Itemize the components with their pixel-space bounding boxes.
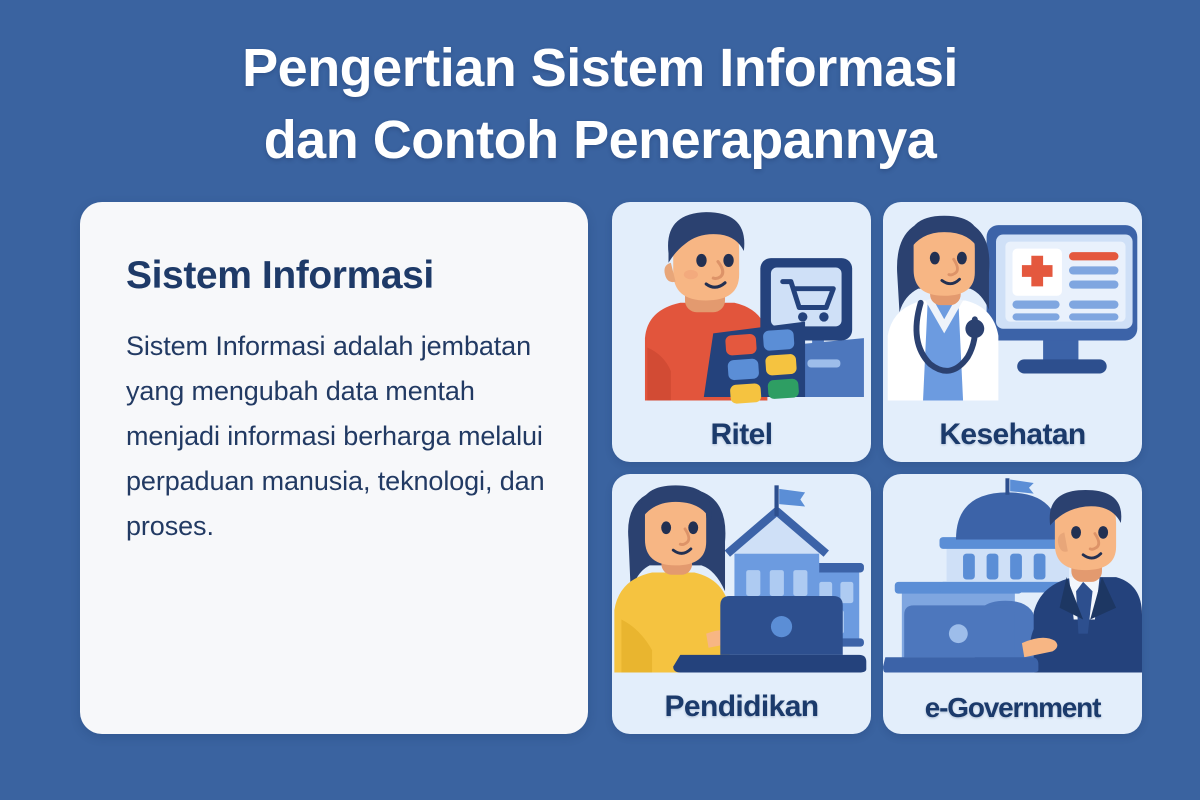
doctor-medical-record-monitor-icon [883, 202, 1142, 405]
official-laptop-capitol-building-icon [883, 474, 1142, 677]
definition-heading: Sistem Informasi [126, 254, 546, 298]
content-area: Sistem Informasi Sistem Informasi adalah… [80, 202, 1142, 734]
student-laptop-school-building-icon [612, 474, 871, 677]
definition-card: Sistem Informasi Sistem Informasi adalah… [80, 202, 588, 734]
example-label-ritel: Ritel [612, 418, 871, 452]
example-label-pendidikan: Pendidikan [612, 690, 871, 724]
example-card-e-government[interactable]: e-Government [883, 474, 1142, 734]
page-title: Pengertian Sistem Informasi dan Contoh P… [0, 32, 1200, 176]
definition-body-text: Sistem Informasi adalah jembatan yang me… [126, 324, 546, 549]
example-label-e-government: e-Government [883, 692, 1142, 724]
example-card-pendidikan[interactable]: Pendidikan [612, 474, 871, 734]
infographic-canvas: Pengertian Sistem Informasi dan Contoh P… [0, 0, 1200, 800]
example-card-kesehatan[interactable]: Kesehatan [883, 202, 1142, 462]
page-title-line-1: Pengertian Sistem Informasi [0, 32, 1200, 104]
examples-grid: Ritel [612, 202, 1142, 734]
example-label-kesehatan: Kesehatan [883, 418, 1142, 452]
page-title-line-2: dan Contoh Penerapannya [0, 104, 1200, 176]
retail-cashier-pos-icon [612, 202, 871, 405]
example-card-ritel[interactable]: Ritel [612, 202, 871, 462]
